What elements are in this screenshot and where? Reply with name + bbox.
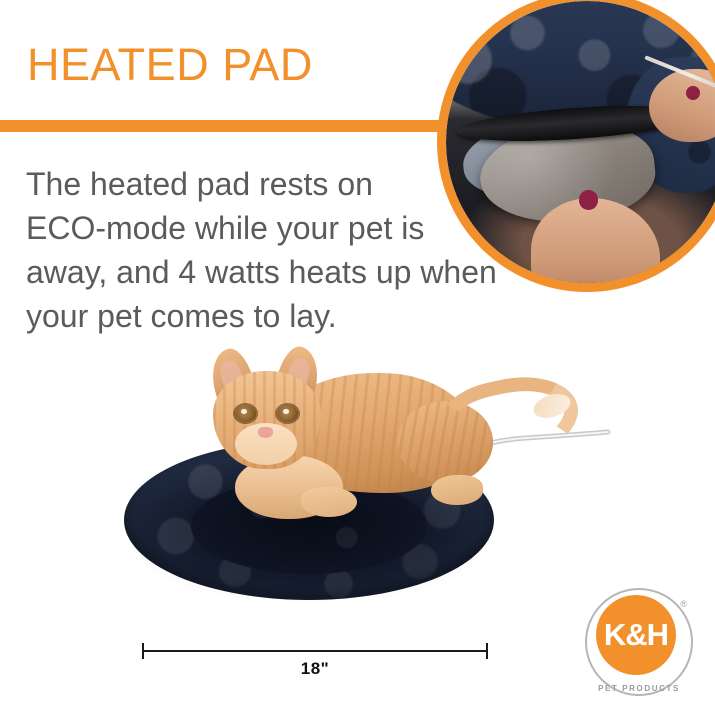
inset-fingernail-upper [686,86,700,100]
dimension-line [142,650,488,652]
dimension-label: 18" [0,659,630,679]
detail-inset [437,0,715,292]
cat-nose [258,427,273,438]
body-line-4: your pet comes to lay. [26,294,516,338]
logo-tagline: PET PRODUCTS [585,684,693,693]
cat-front-paw [301,487,357,517]
brand-logo: K&H ® PET PRODUCTS [585,588,693,696]
cat-back-paw [431,475,483,505]
dimension-tick-right [486,643,488,659]
inset-orange-ring [437,0,715,292]
page-title: HEATED PAD [27,39,313,91]
product-photo [100,355,600,615]
registered-trademark-icon: ® [680,599,687,609]
logo-wordmark: K&H [596,595,676,675]
infographic-page: HEATED PAD The heated pad rests on ECO-m… [0,0,715,703]
inset-fingernail-lower [579,190,599,210]
kitten [195,355,495,530]
inset-photo-unzipping-bed [446,1,715,283]
cat-eye-right [277,405,298,422]
cat-eye-left [235,405,256,422]
header-rule-bar [0,120,452,132]
